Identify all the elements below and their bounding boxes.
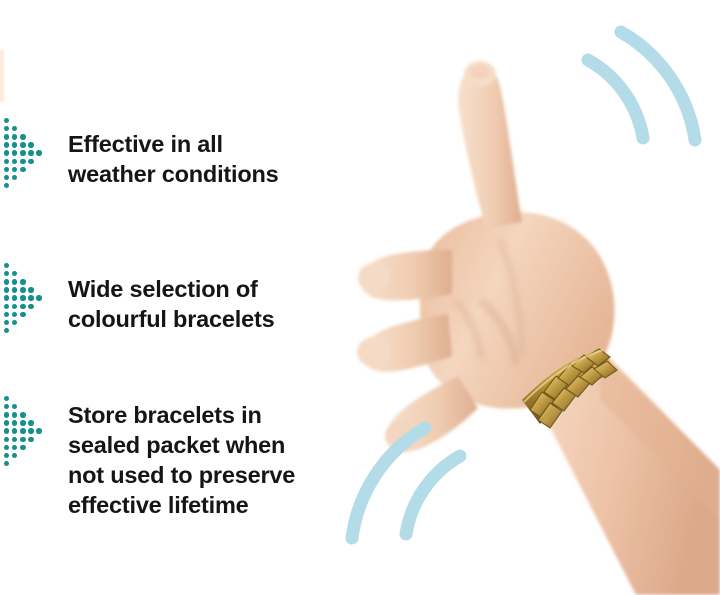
arrow-dot <box>12 437 17 442</box>
arrow-dot <box>12 142 17 147</box>
arrow-dot <box>12 304 17 309</box>
arrow-dot <box>20 159 25 164</box>
arrow-dot <box>4 428 9 433</box>
arrow-dot <box>4 150 9 155</box>
arrow-dot <box>28 420 33 425</box>
arrow-dot <box>20 312 25 317</box>
arrow-dot <box>4 304 9 309</box>
arrow-dot <box>12 312 17 317</box>
arrow-dot <box>4 453 9 458</box>
arrow-dot <box>12 150 17 155</box>
arrow-dot <box>20 287 25 292</box>
arrow-dot <box>4 142 9 147</box>
arrow-dot <box>12 295 17 300</box>
arrow-dot <box>12 428 17 433</box>
arrow-dot <box>4 287 9 292</box>
arrow-dot <box>20 412 25 417</box>
arrow-dot <box>12 453 17 458</box>
arrow-dot <box>4 420 9 425</box>
arrow-dot <box>4 134 9 139</box>
arrow-dot <box>28 437 33 442</box>
arrow-dot <box>20 279 25 284</box>
arrow-dot <box>28 428 33 433</box>
arrow-dot <box>4 118 9 123</box>
arrow-dot <box>12 271 17 276</box>
arrow-dot <box>4 412 9 417</box>
feature-row-1: Effective in all weather conditions <box>4 118 279 194</box>
arrow-dot <box>28 295 33 300</box>
arrow-dot <box>4 396 9 401</box>
arrow-dot <box>20 420 25 425</box>
arrow-dot <box>28 142 33 147</box>
arrow-dot <box>4 271 9 276</box>
arrow-dot <box>20 142 25 147</box>
arrow-dot <box>4 279 9 284</box>
arrow-dot <box>4 159 9 164</box>
signal-arc-upper-outer <box>621 32 695 140</box>
arrow-dot <box>28 150 33 155</box>
dotted-arrow-icon <box>4 118 52 194</box>
feature-text-1: Effective in all weather conditions <box>68 118 279 189</box>
arrow-dot <box>4 320 9 325</box>
signal-arc-upper-inner <box>588 60 643 138</box>
arrow-dot <box>36 428 41 433</box>
arrow-dot <box>4 183 9 188</box>
arrow-dot <box>20 150 25 155</box>
arrow-dot <box>20 167 25 172</box>
arrow-dot <box>28 304 33 309</box>
arrow-dot <box>4 328 9 333</box>
arrow-dot <box>12 126 17 131</box>
arrow-dot <box>12 404 17 409</box>
dotted-arrow-icon <box>4 263 52 339</box>
index-finger <box>458 61 522 228</box>
arrow-dot <box>20 304 25 309</box>
arrow-dot <box>4 263 9 268</box>
signal-arc-lower-inner <box>406 456 460 534</box>
feature-text-3: Store bracelets in sealed packet when no… <box>68 396 295 520</box>
arrow-dot <box>12 175 17 180</box>
arrow-dot <box>4 312 9 317</box>
arrow-dot <box>20 428 25 433</box>
arrow-dot <box>4 461 9 466</box>
middle-finger <box>358 250 452 300</box>
arrow-dot <box>4 175 9 180</box>
arrow-dot <box>20 437 25 442</box>
product-photo <box>300 0 720 595</box>
arrow-dot <box>12 167 17 172</box>
promo-graphic: Effective in all weather conditions Wide… <box>0 0 720 595</box>
arrow-dot <box>12 445 17 450</box>
arrow-dot <box>12 320 17 325</box>
arrow-dot <box>4 445 9 450</box>
arrow-dot <box>20 295 25 300</box>
arrow-dot <box>20 445 25 450</box>
arrow-dot <box>12 134 17 139</box>
arrow-dot <box>12 412 17 417</box>
arrow-dot <box>4 126 9 131</box>
arrow-dot <box>28 159 33 164</box>
arrow-dot <box>4 437 9 442</box>
arrow-dot <box>12 279 17 284</box>
arrow-dot <box>4 404 9 409</box>
arrow-dot <box>4 295 9 300</box>
arrow-dot <box>28 287 33 292</box>
feature-row-2: Wide selection of colourful bracelets <box>4 263 274 339</box>
arrow-dot <box>12 420 17 425</box>
arrow-dot <box>12 159 17 164</box>
dotted-arrow-icon <box>4 396 52 472</box>
arrow-dot <box>20 134 25 139</box>
arrow-dot <box>4 167 9 172</box>
arrow-dot <box>36 295 41 300</box>
feature-text-2: Wide selection of colourful bracelets <box>68 263 274 334</box>
left-edge-peach-sliver <box>0 50 5 102</box>
feature-row-3: Store bracelets in sealed packet when no… <box>4 396 295 520</box>
arrow-dot <box>12 287 17 292</box>
arrow-dot <box>36 150 41 155</box>
